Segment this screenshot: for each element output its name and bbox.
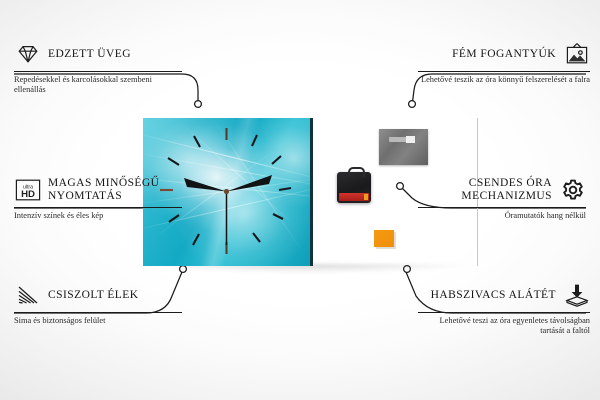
clock-hour-hand [184, 178, 227, 192]
callout-title: EDZETT ÜVEG [48, 48, 182, 61]
callout-subtitle: Lehetővé teszik az óra könnyű felszerelé… [418, 75, 590, 85]
callout-high-quality-print: ultra HD MAGAS MINŐSÉGŰ NYOMTATÁS Intenz… [14, 176, 182, 221]
connector-dot-handles [409, 101, 416, 108]
callout-divider [418, 71, 590, 72]
callout-silent-mechanism: CSENDES ÓRA MECHANIZMUS Óramutatók hang … [418, 176, 586, 221]
callout-divider [418, 312, 590, 313]
polished-edges-icon [14, 282, 41, 308]
diamond-icon [14, 41, 41, 67]
callout-foam-pad: HABSZIVACS ALÁTÉT Lehetővé teszi az óra … [418, 281, 590, 336]
callout-divider [14, 71, 182, 72]
battery-terminal [364, 194, 368, 200]
callout-subtitle: Repedésekkel és karcolásokkal szembeni e… [14, 75, 182, 95]
picture-hanger-icon [563, 41, 590, 67]
foam-spacer-pad [374, 230, 394, 247]
infographic-canvas: EDZETT ÜVEG Repedésekkel és karcolásokka… [0, 0, 600, 400]
clock-minute-hand [227, 175, 273, 192]
callout-subtitle: Lehetővé teszi az óra egyenletes távolsá… [418, 316, 590, 336]
callout-header: CSISZOLT ÉLEK [14, 281, 182, 309]
callout-title: HABSZIVACS ALÁTÉT [418, 289, 556, 302]
callout-subtitle: Intenzív színek és éles kép [14, 211, 182, 221]
callout-divider [418, 207, 586, 208]
callout-subtitle: Sima és biztonságos felület [14, 316, 182, 326]
callout-title: FÉM FOGANTYÚK [418, 48, 556, 61]
movement-hanging-loop [348, 167, 365, 177]
callout-header: CSENDES ÓRA MECHANIZMUS [418, 176, 586, 204]
callout-title: CSENDES ÓRA MECHANIZMUS [418, 177, 552, 202]
gear-icon [559, 177, 586, 203]
clock-center-cap [224, 189, 229, 194]
ultra-hd-icon: ultra HD [14, 177, 41, 203]
hanger-slot [389, 137, 415, 142]
metal-hanger-plate [379, 129, 428, 165]
callout-subtitle: Óramutatók hang nélkül [418, 211, 586, 221]
battery [339, 193, 369, 201]
callout-tempered-glass: EDZETT ÜVEG Repedésekkel és karcolásokka… [14, 40, 182, 95]
foam-pad-icon [563, 282, 590, 308]
callout-divider [14, 207, 182, 208]
callout-header: HABSZIVACS ALÁTÉT [418, 281, 590, 309]
connector-dot-tempered-glass [195, 101, 202, 108]
callout-header: ultra HD MAGAS MINŐSÉGŰ NYOMTATÁS [14, 176, 182, 204]
callout-metal-handles: FÉM FOGANTYÚK Lehetővé teszik az óra kön… [418, 40, 590, 85]
quartz-movement [337, 172, 371, 203]
callout-divider [14, 312, 182, 313]
callout-title: CSISZOLT ÉLEK [48, 289, 182, 302]
callout-polished-edges: CSISZOLT ÉLEK Sima és biztonságos felüle… [14, 281, 182, 326]
callout-title: MAGAS MINŐSÉGŰ NYOMTATÁS [48, 177, 182, 202]
callout-header: FÉM FOGANTYÚK [418, 40, 590, 68]
ultra-hd-large-label: HD [21, 189, 35, 200]
callout-header: EDZETT ÜVEG [14, 40, 182, 68]
